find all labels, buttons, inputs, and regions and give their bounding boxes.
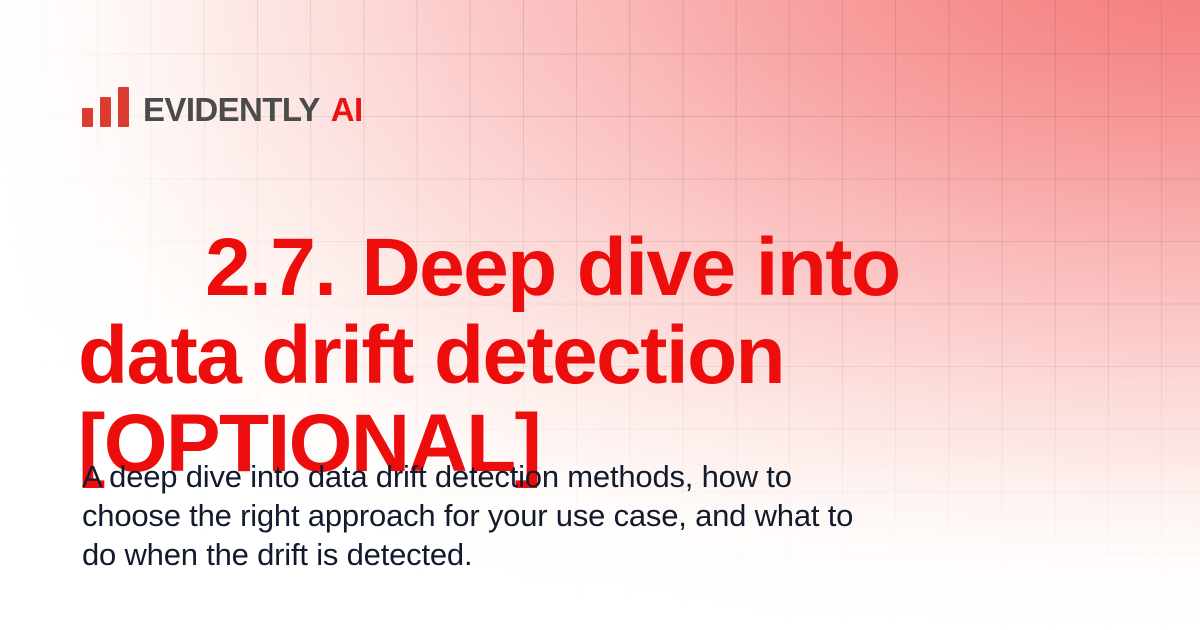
logo-wordmark: EVIDENTLY AI [143, 93, 363, 126]
bar-chart-logo-icon [82, 87, 129, 127]
page-description: A deep dive into data drift detection me… [82, 457, 892, 574]
logo-word-ai: AI [331, 93, 363, 126]
logo-word-evidently: EVIDENTLY [143, 93, 320, 126]
logo-bar-2 [100, 97, 111, 127]
page-title-number: 2.7. [205, 222, 335, 313]
logo-bar-1 [82, 108, 93, 127]
card-content: EVIDENTLY AI 2.7.Deep dive into data dri… [82, 0, 1142, 630]
logo-bar-3 [118, 87, 129, 127]
social-share-card: EVIDENTLY AI 2.7.Deep dive into data dri… [0, 0, 1200, 630]
evidently-ai-logo[interactable]: EVIDENTLY AI [82, 86, 363, 128]
